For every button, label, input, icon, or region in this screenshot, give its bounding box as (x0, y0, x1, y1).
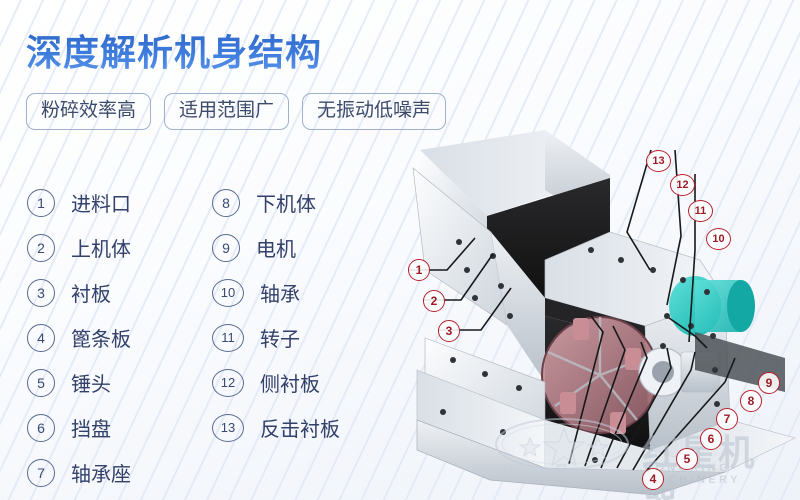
parts-legend-column-left: 1 进料口 2 上机体 3 衬板 4 篦条板 5 锤头 6 挡盘 (27, 180, 131, 495)
callout-marker-2[interactable]: 2 (423, 290, 445, 312)
legend-label: 反击衬板 (260, 413, 340, 442)
watermark-brand-en: HONGXING MACHINERY (644, 462, 792, 486)
legend-number: 8 (212, 189, 240, 217)
legend-number: 4 (27, 324, 55, 352)
list-item[interactable]: 6 挡盘 (27, 405, 131, 450)
list-item[interactable]: 1 进料口 (27, 180, 131, 225)
legend-label: 衬板 (71, 278, 111, 307)
callout-marker-11[interactable]: 11 (688, 200, 713, 222)
legend-label: 轴承 (260, 278, 300, 307)
callout-marker-7[interactable]: 7 (716, 408, 738, 430)
legend-number: 2 (27, 234, 55, 262)
list-item[interactable]: 13 反击衬板 (212, 405, 340, 450)
list-item[interactable]: 2 上机体 (27, 225, 131, 270)
legend-label: 侧衬板 (260, 368, 320, 397)
callout-marker-10[interactable]: 10 (706, 228, 731, 250)
legend-label: 下机体 (256, 188, 316, 217)
legend-label: 挡盘 (71, 413, 111, 442)
feature-tag[interactable]: 粉碎效率高 (26, 93, 151, 130)
list-item[interactable]: 9 电机 (212, 225, 340, 270)
callout-marker-5[interactable]: 5 (676, 448, 698, 470)
list-item[interactable]: 10 轴承 (212, 270, 340, 315)
callout-marker-1[interactable]: 1 (408, 259, 430, 281)
page-root: 深度解析机身结构 粉碎效率高 适用范围广 无振动低噪声 1 进料口 2 上机体 … (0, 0, 800, 500)
legend-label: 轴承座 (71, 458, 131, 487)
parts-legend-column-right: 8 下机体 9 电机 10 轴承 11 转子 12 侧衬板 13 反击衬板 (212, 180, 340, 450)
legend-number: 10 (212, 279, 244, 307)
legend-label: 电机 (256, 233, 296, 262)
legend-label: 锤头 (71, 368, 111, 397)
callout-marker-12[interactable]: 12 (670, 174, 695, 196)
callout-marker-9[interactable]: 9 (758, 372, 780, 394)
page-title: 深度解析机身结构 (26, 24, 322, 76)
list-item[interactable]: 3 衬板 (27, 270, 131, 315)
legend-number: 3 (27, 279, 55, 307)
legend-number: 11 (212, 324, 244, 352)
legend-label: 转子 (260, 323, 300, 352)
callout-marker-4[interactable]: 4 (642, 468, 664, 490)
feature-tag-list: 粉碎效率高 适用范围广 无振动低噪声 (26, 93, 446, 130)
legend-number: 1 (27, 189, 55, 217)
legend-number: 9 (212, 234, 240, 262)
legend-number: 6 (27, 414, 55, 442)
watermark-brand-cn-small: 红星 (502, 460, 608, 479)
legend-number: 7 (27, 459, 55, 487)
legend-label: 上机体 (71, 233, 131, 262)
feature-tag[interactable]: 适用范围广 (164, 93, 289, 130)
list-item[interactable]: 5 锤头 (27, 360, 131, 405)
list-item[interactable]: 8 下机体 (212, 180, 340, 225)
callout-marker-3[interactable]: 3 (438, 320, 460, 342)
list-item[interactable]: 11 转子 (212, 315, 340, 360)
callout-marker-8[interactable]: 8 (740, 390, 762, 412)
legend-number: 5 (27, 369, 55, 397)
list-item[interactable]: 12 侧衬板 (212, 360, 340, 405)
legend-label: 篦条板 (71, 323, 131, 352)
legend-number: 13 (212, 414, 244, 442)
callout-marker-13[interactable]: 13 (646, 150, 671, 172)
list-item[interactable]: 7 轴承座 (27, 450, 131, 495)
list-item[interactable]: 4 篦条板 (27, 315, 131, 360)
callout-marker-6[interactable]: 6 (700, 428, 722, 450)
legend-label: 进料口 (71, 188, 131, 217)
legend-number: 12 (212, 369, 244, 397)
